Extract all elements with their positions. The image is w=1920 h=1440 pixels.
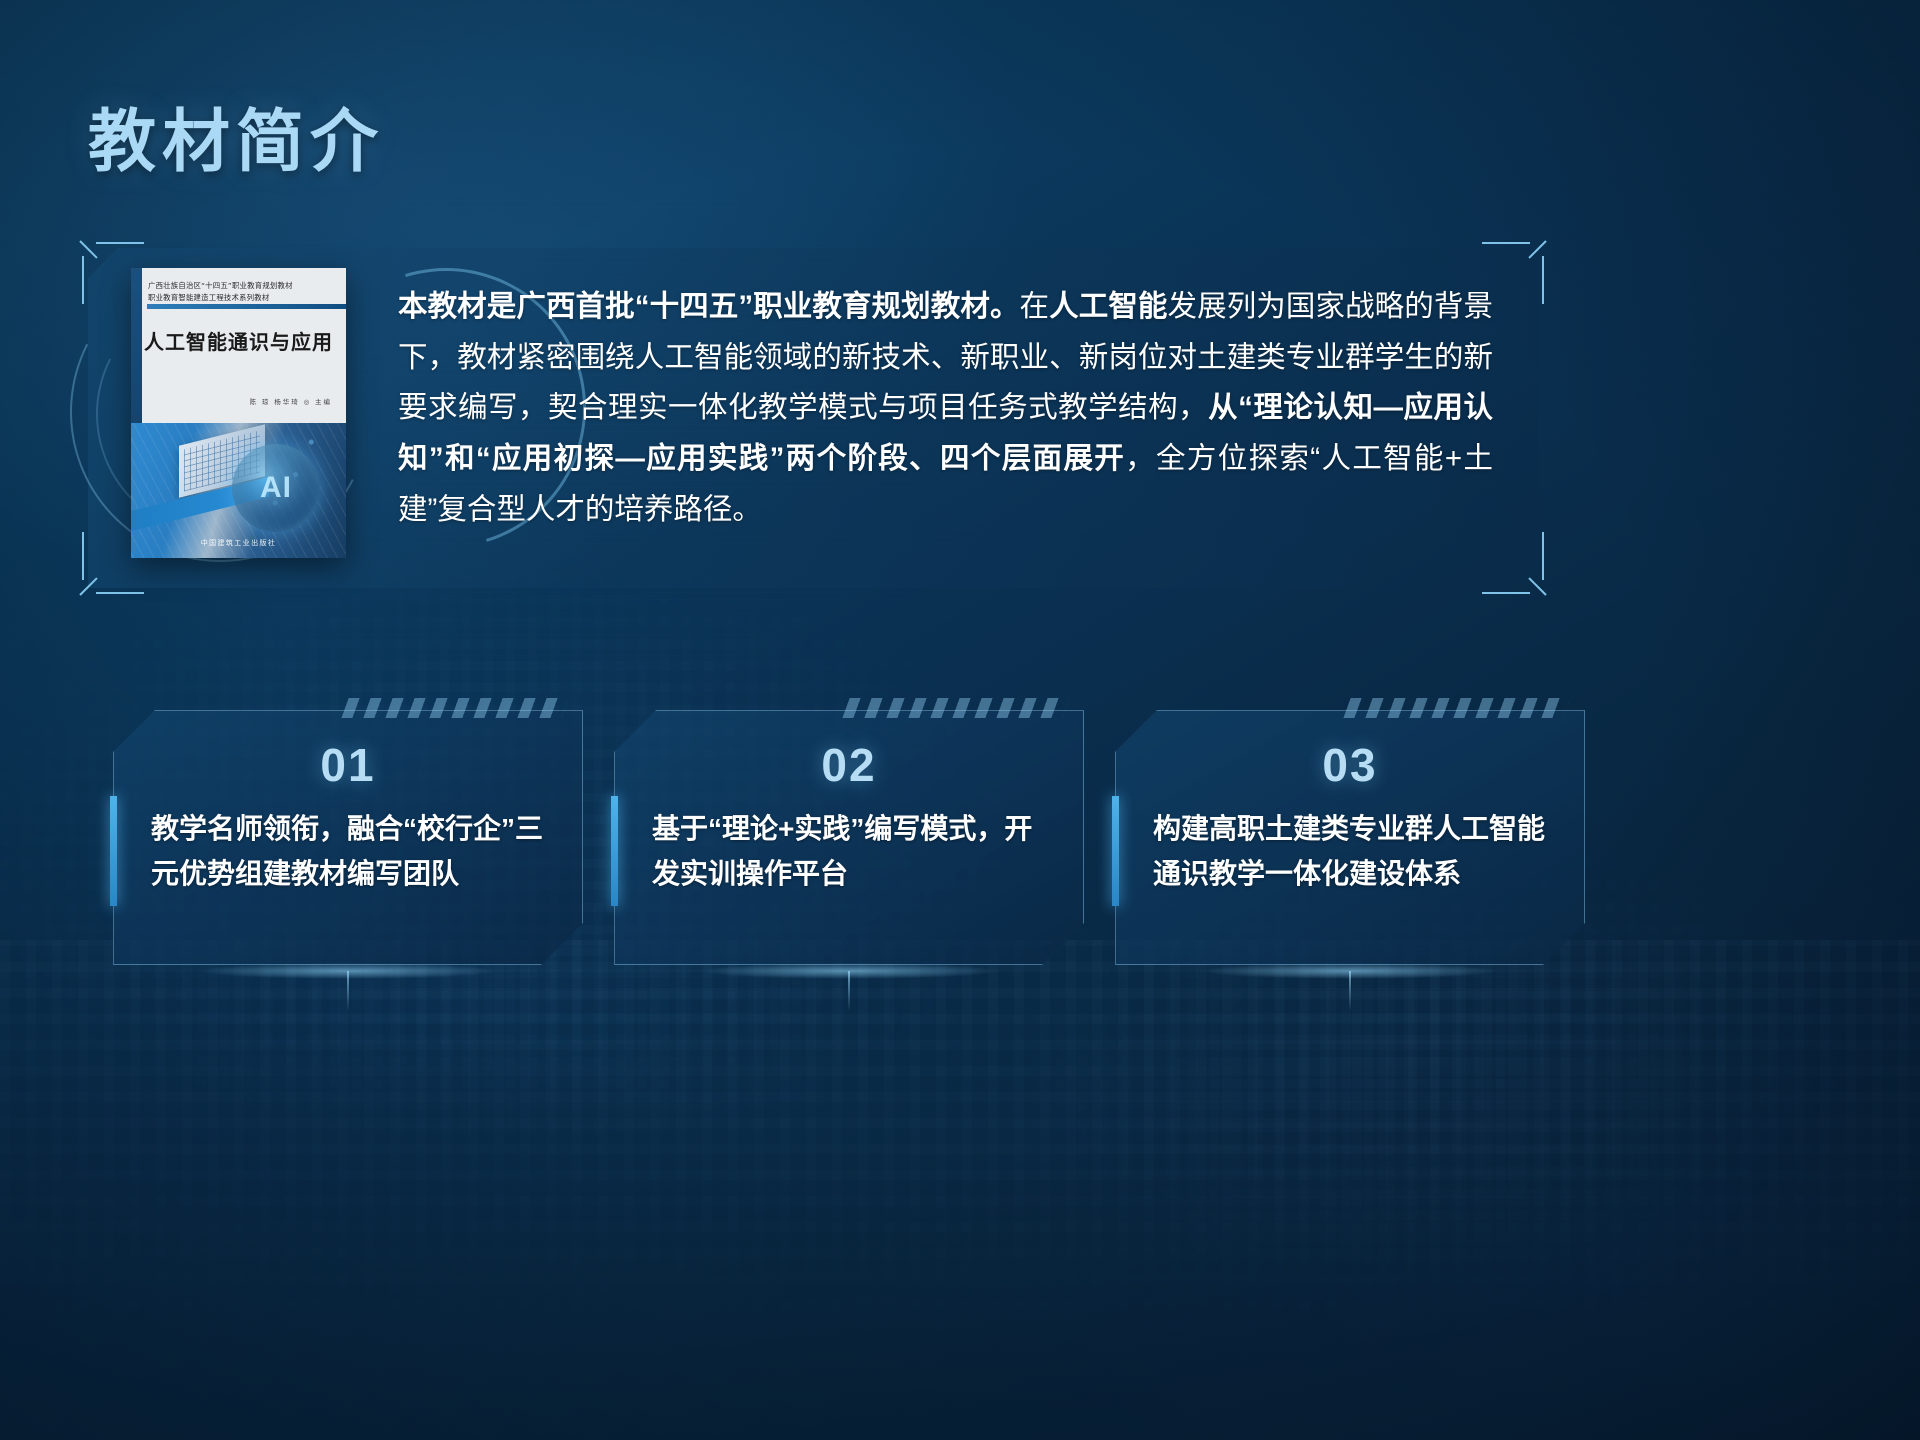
- book-cover-rule: [147, 304, 346, 309]
- book-cover-artwork: 中国建筑工业出版社: [131, 423, 346, 558]
- intro-panel: 广西壮族自治区“十四五”职业教育规划教材 职业教育智能建造工程技术系列教材 人工…: [88, 248, 1538, 588]
- card-ticks-03-icon: [1343, 698, 1570, 718]
- card-stem-03: [1349, 971, 1351, 1011]
- feature-card-02[interactable]: 02 基于“理论+实践”编写模式，开发实训操作平台: [614, 710, 1084, 965]
- card-number-01: 01: [113, 738, 583, 792]
- card-number-02: 02: [614, 738, 1084, 792]
- book-cover-title: 人工智能通识与应用: [131, 326, 346, 355]
- intro-paragraph: 本教材是广西首批“十四五”职业教育规划教材。在人工智能发展列为国家战略的背景下，…: [398, 282, 1493, 536]
- book-cover-image: 广西壮族自治区“十四五”职业教育规划教材 职业教育智能建造工程技术系列教材 人工…: [131, 268, 346, 558]
- intro-text-2: 在: [1020, 290, 1050, 323]
- card-text-02: 基于“理论+实践”编写模式，开发实训操作平台: [652, 806, 1054, 897]
- card-ticks-02-icon: [842, 698, 1069, 718]
- book-cover-authors: 陈 琼 杨华琦 ◎ 主编: [250, 396, 332, 406]
- book-cover-series: 广西壮族自治区“十四五”职业教育规划教材 职业教育智能建造工程技术系列教材: [148, 280, 340, 304]
- feature-card-01[interactable]: 01 教学名师领衔，融合“校行企”三元优势组建教材编写团队: [113, 710, 583, 965]
- book-series-line-1: 广西壮族自治区“十四五”职业教育规划教材: [148, 280, 340, 292]
- card-accent-bar-02: [611, 796, 618, 906]
- card-accent-bar-01: [110, 796, 117, 906]
- card-stem-02: [848, 971, 850, 1011]
- page-title: 教材简介: [88, 86, 384, 185]
- card-ticks-01-icon: [341, 698, 568, 718]
- card-accent-bar-03: [1112, 796, 1119, 906]
- card-text-03: 构建高职土建类专业群人工智能通识教学一体化建设体系: [1153, 806, 1555, 897]
- feature-card-03[interactable]: 03 构建高职土建类专业群人工智能通识教学一体化建设体系: [1115, 710, 1585, 965]
- card-number-03: 03: [1115, 738, 1585, 792]
- intro-text-bold-3: 人工智能: [1049, 290, 1167, 323]
- book-publisher: 中国建筑工业出版社: [131, 538, 346, 548]
- card-stem-01: [347, 971, 349, 1011]
- feature-cards: 01 教学名师领衔，融合“校行企”三元优势组建教材编写团队 02 基于“理论+实…: [0, 700, 1920, 1000]
- panel-corner-bottom-right-icon: [1482, 532, 1544, 594]
- card-text-01: 教学名师领衔，融合“校行企”三元优势组建教材编写团队: [151, 806, 553, 897]
- ai-globe-icon: [232, 444, 320, 532]
- book-series-line-2: 职业教育智能建造工程技术系列教材: [148, 292, 340, 304]
- intro-text-bold-1: 本教材是广西首批“十四五”职业教育规划教材。: [398, 290, 1020, 323]
